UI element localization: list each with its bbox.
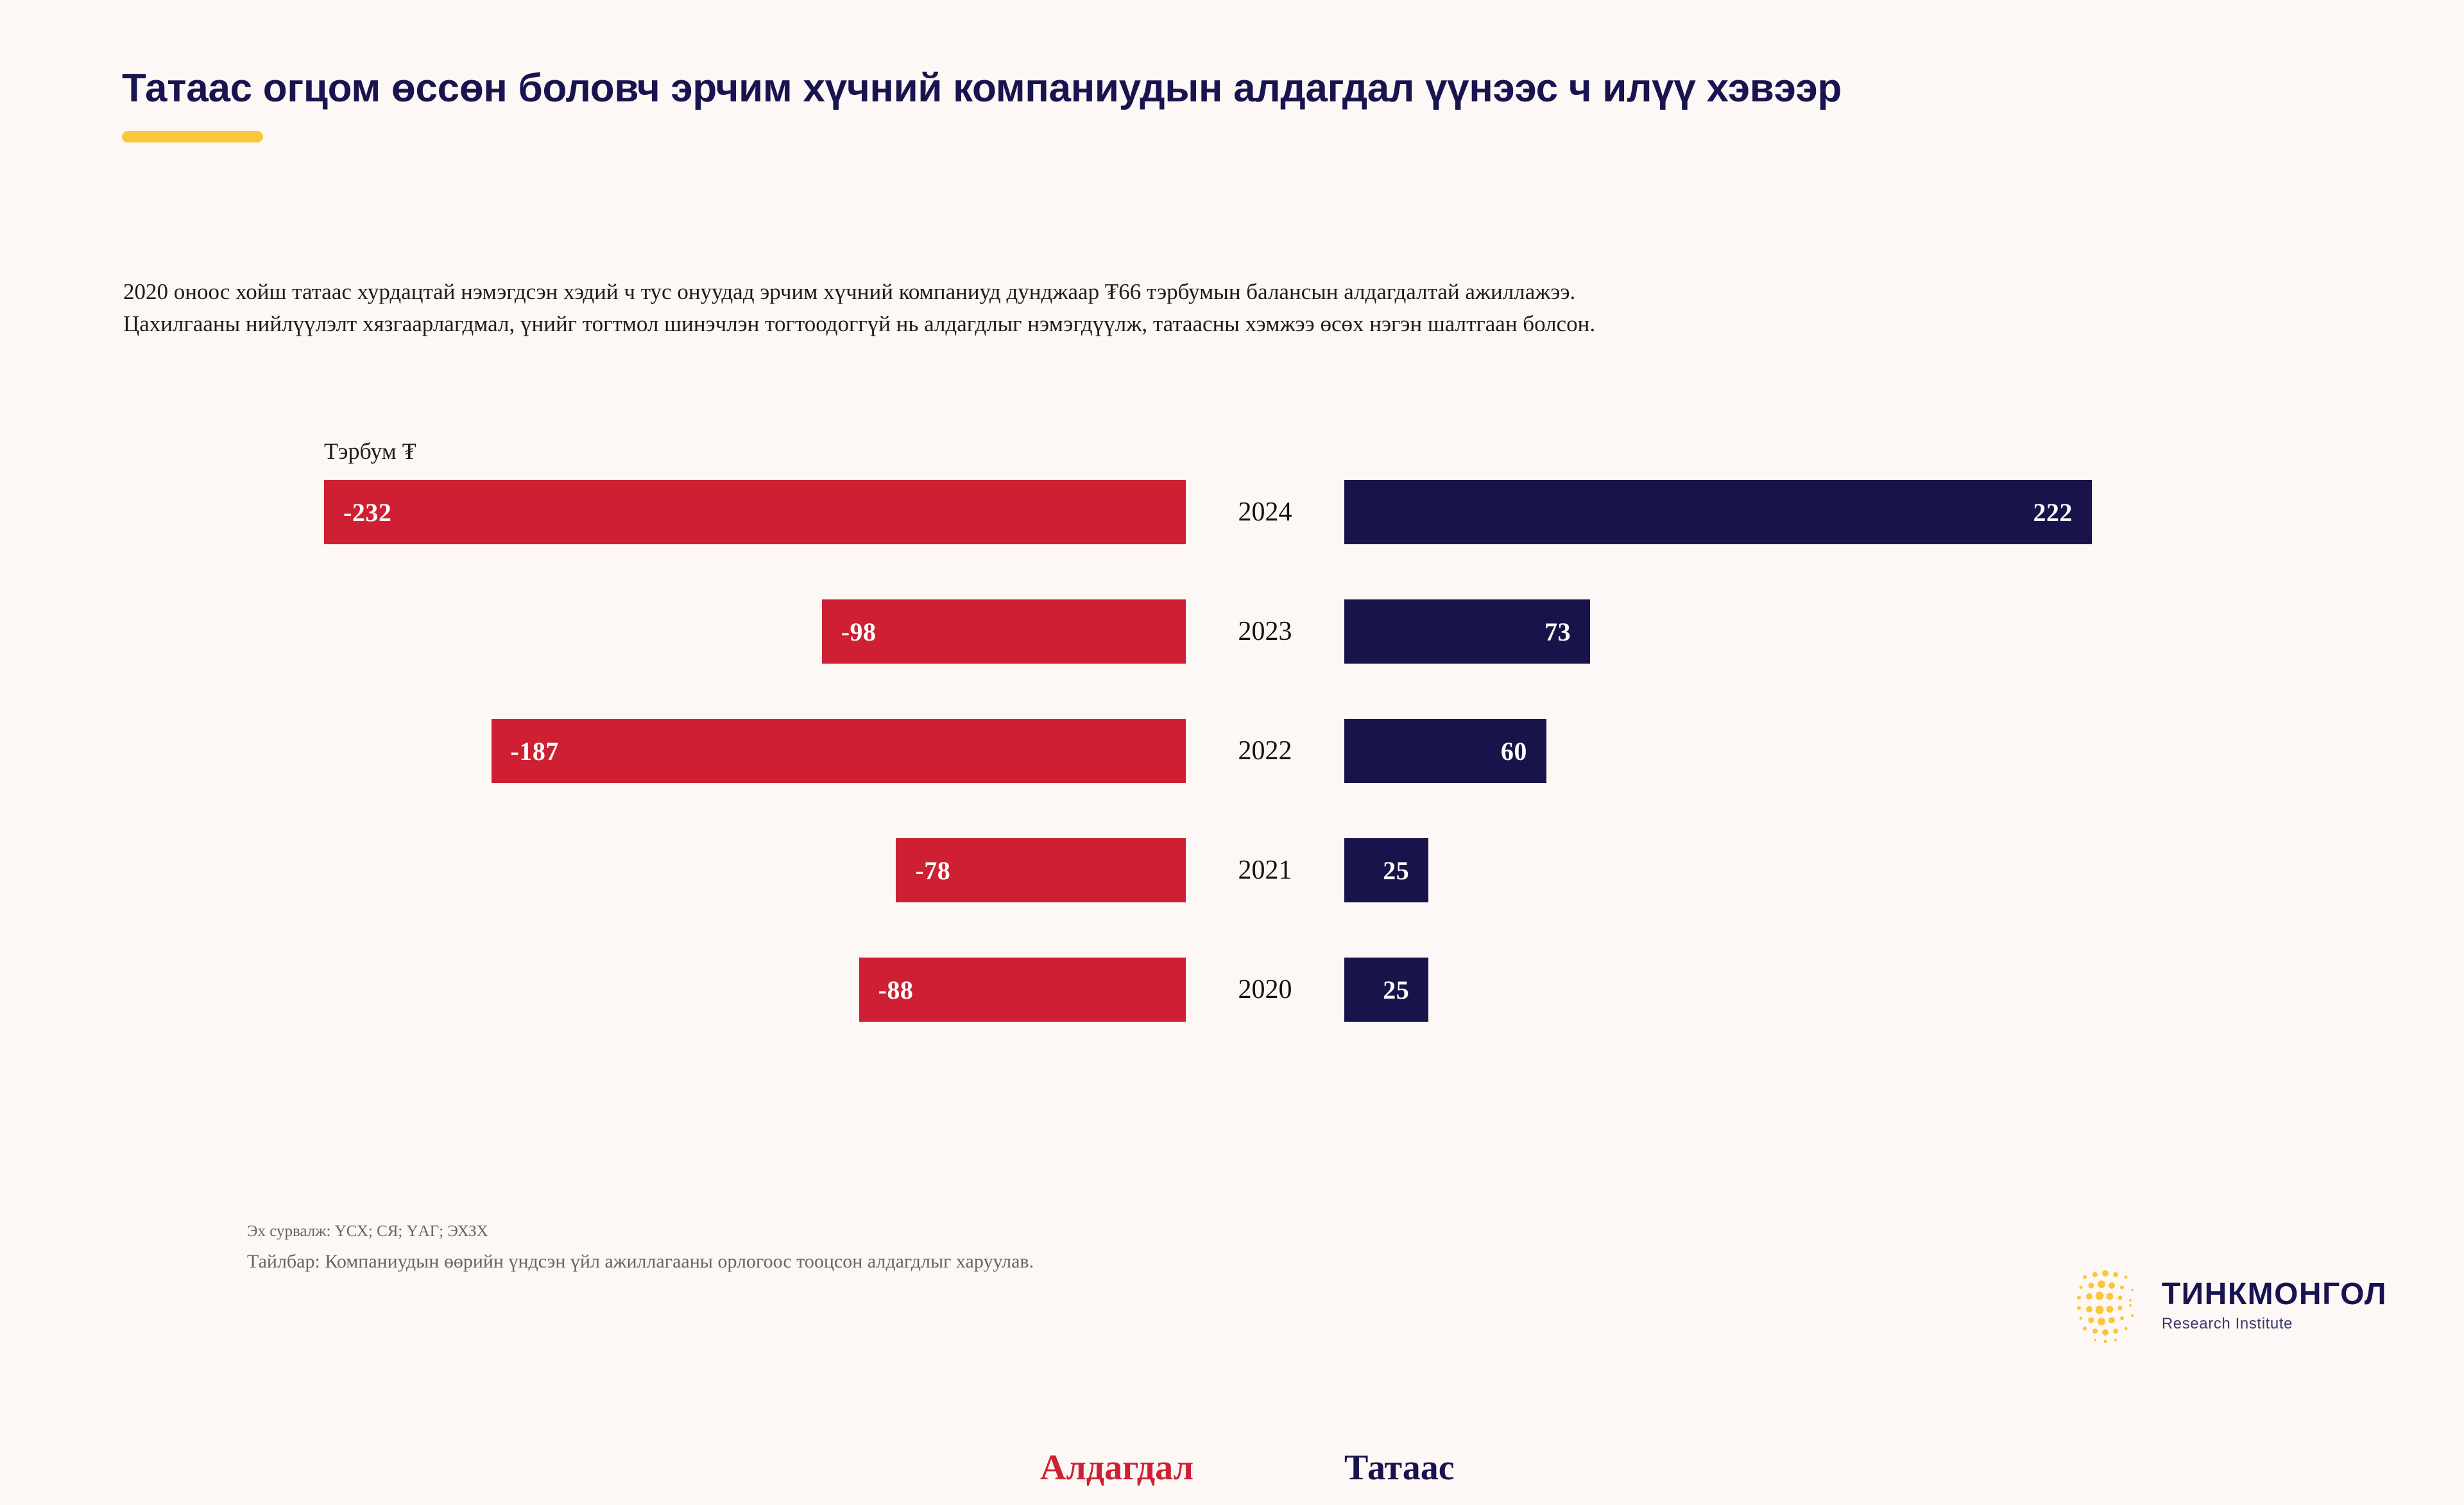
loss-bar-value: -88 bbox=[878, 975, 914, 1005]
subsidy-bar-track: 73 bbox=[1344, 599, 2464, 664]
chart-row: -98202373 bbox=[0, 599, 2464, 664]
loss-bar[interactable]: -187 bbox=[492, 719, 1186, 783]
subsidy-bar-value: 60 bbox=[1501, 736, 1527, 766]
loss-bar-track: -88 bbox=[0, 958, 1186, 1022]
loss-bar-track: -232 bbox=[0, 480, 1186, 544]
logo-text-block: ТИНКМОНГОЛ Research Institute bbox=[2162, 1279, 2387, 1332]
page-title: Татаас огцом өссөн боловч эрчим хүчний к… bbox=[122, 64, 2239, 113]
subtitle-line-1: 2020 оноос хойш татаас хурдацтай нэмэгдс… bbox=[123, 276, 2318, 308]
note-text: Тайлбар: Компаниудын өөрийн үндсэн үйл а… bbox=[247, 1251, 1915, 1273]
loss-bar-value: -78 bbox=[915, 856, 950, 886]
subsidy-bar[interactable]: 25 bbox=[1344, 838, 1428, 902]
subtitle: 2020 оноос хойш татаас хурдацтай нэмэгдс… bbox=[123, 276, 2318, 340]
chart-row: -2322024222 bbox=[0, 480, 2464, 544]
subsidy-bar-track: 25 bbox=[1344, 838, 2464, 902]
diverging-bar-chart: Тэрбум ₮ -2322024222-98202373-187202260-… bbox=[0, 424, 2464, 1104]
header: Татаас огцом өссөн боловч эрчим хүчний к… bbox=[122, 64, 2291, 142]
chart-row: -187202260 bbox=[0, 719, 2464, 783]
subsidy-bar-value: 222 bbox=[2033, 497, 2073, 528]
logo-subtitle: Research Institute bbox=[2162, 1316, 2387, 1332]
loss-bar-track: -187 bbox=[0, 719, 1186, 783]
loss-bar-value: -98 bbox=[841, 617, 877, 647]
subsidy-bar[interactable]: 73 bbox=[1344, 599, 1590, 664]
subsidy-bar[interactable]: 60 bbox=[1344, 719, 1546, 783]
chart-unit-label: Тэрбум ₮ bbox=[324, 438, 416, 465]
year-label: 2020 bbox=[1186, 958, 1344, 1022]
subsidy-bar[interactable]: 222 bbox=[1344, 480, 2092, 544]
loss-bar[interactable]: -98 bbox=[822, 599, 1186, 664]
chart-legend: Алдагдал Татаас bbox=[0, 1447, 2464, 1505]
year-label: 2024 bbox=[1186, 480, 1344, 544]
source-text: Эх сурвалж: ҮСХ; СЯ; ҮАГ; ЭХЗХ bbox=[247, 1223, 1915, 1241]
loss-bar-value: -187 bbox=[511, 736, 559, 766]
subtitle-line-2: Цахилгааны нийлүүлэлт хязгаарлагдмал, үн… bbox=[123, 308, 2318, 340]
subsidy-bar[interactable]: 25 bbox=[1344, 958, 1428, 1022]
chart-row: -88202025 bbox=[0, 958, 2464, 1022]
chart-bar-rows: -2322024222-98202373-187202260-78202125-… bbox=[0, 480, 2464, 1077]
footer: Эх сурвалж: ҮСХ; СЯ; ҮАГ; ЭХЗХ Тайлбар: … bbox=[247, 1223, 1915, 1273]
year-label: 2021 bbox=[1186, 838, 1344, 902]
year-label: 2023 bbox=[1186, 599, 1344, 664]
legend-item-loss: Алдагдал bbox=[757, 1447, 1193, 1488]
legend-item-subsidy: Татаас bbox=[1344, 1447, 1781, 1488]
subsidy-bar-track: 25 bbox=[1344, 958, 2464, 1022]
loss-bar-track: -98 bbox=[0, 599, 1186, 664]
loss-bar[interactable]: -232 bbox=[324, 480, 1186, 544]
halftone-hexagon-icon bbox=[2076, 1264, 2148, 1346]
year-label: 2022 bbox=[1186, 719, 1344, 783]
subsidy-bar-track: 222 bbox=[1344, 480, 2464, 544]
subsidy-bar-track: 60 bbox=[1344, 719, 2464, 783]
subsidy-bar-value: 73 bbox=[1544, 617, 1571, 647]
chart-row: -78202125 bbox=[0, 838, 2464, 902]
subsidy-bar-value: 25 bbox=[1383, 856, 1409, 886]
loss-bar-value: -232 bbox=[343, 497, 391, 528]
brand-logo: ТИНКМОНГОЛ Research Institute bbox=[2076, 1264, 2387, 1346]
subsidy-bar-value: 25 bbox=[1383, 975, 1409, 1005]
loss-bar[interactable]: -78 bbox=[896, 838, 1186, 902]
logo-name: ТИНКМОНГОЛ bbox=[2162, 1279, 2387, 1310]
loss-bar-track: -78 bbox=[0, 838, 1186, 902]
loss-bar[interactable]: -88 bbox=[859, 958, 1186, 1022]
accent-underline bbox=[122, 131, 263, 142]
